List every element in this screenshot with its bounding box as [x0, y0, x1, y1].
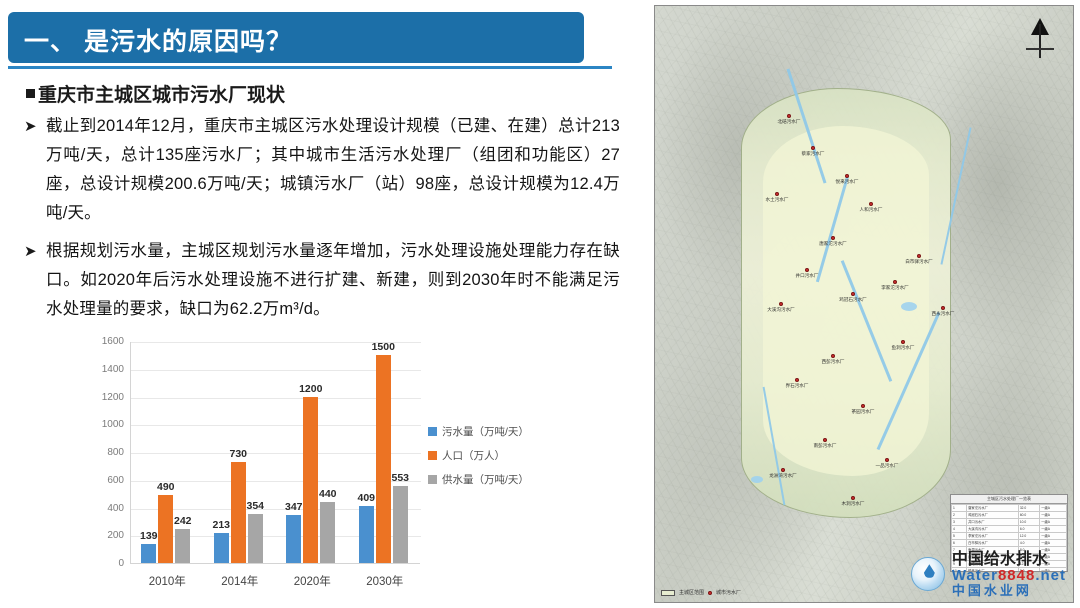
plant-label: 悦来污水厂: [836, 179, 859, 185]
table-cell: 井口污水厂: [967, 519, 1019, 526]
plant-marker: [805, 268, 809, 272]
table-cell: 唐家沱污水厂: [967, 505, 1019, 512]
plant-marker: [781, 468, 785, 472]
bullet-paragraph-1: ➤ 截止到2014年12月，重庆市主城区污水处理设计规模（已建、在建）总计213…: [24, 112, 620, 228]
table-cell: 白市驿污水厂: [967, 540, 1019, 547]
chart-y-tick: 200: [84, 530, 124, 541]
plant-marker: [779, 302, 783, 306]
chart-y-tick: 800: [84, 447, 124, 458]
plant-label: 鸡冠石污水厂: [839, 297, 867, 303]
bullet-paragraph-1-text: 截止到2014年12月，重庆市主城区污水处理设计规模（已建、在建）总计213万吨…: [46, 112, 620, 228]
chart-bar: [248, 514, 263, 563]
table-cell: 12.0: [1018, 533, 1039, 540]
chart-legend-item: 人口（万人）: [428, 448, 540, 463]
table-row: 4大溪沟污水厂6.0一级A: [952, 526, 1067, 533]
plant-marker: [851, 496, 855, 500]
plant-label: 井口污水厂: [796, 273, 819, 279]
plant-marker: [845, 174, 849, 178]
chart-bar-group: 34712004402020年: [281, 341, 343, 563]
watermark-number: 8848: [998, 567, 1035, 584]
plant-marker: [811, 146, 815, 150]
plant-label: 龙洲湾污水厂: [769, 473, 797, 479]
table-cell: 6: [952, 540, 967, 547]
chart-y-tick: 1600: [84, 336, 124, 347]
table-cell: 10.0: [1018, 519, 1039, 526]
table-row: 3井口污水厂10.0一级A: [952, 519, 1067, 526]
chart-legend-swatch: [428, 427, 437, 436]
plant-marker: [851, 292, 855, 296]
map-panel: 主城区范围 城市污水厂 主城区污水处理厂一览表 1唐家沱污水厂32.0一级A2鸡…: [645, 0, 1080, 608]
plant-label: 水土污水厂: [766, 197, 789, 203]
plant-label: 西彭污水厂: [822, 359, 845, 365]
chart-bar-value-label: 440: [313, 488, 343, 500]
chart-bar-group: 1394902422010年: [136, 341, 198, 563]
arrow-bullet-icon: ➤: [24, 112, 46, 141]
plant-label: 白市驿污水厂: [905, 259, 933, 265]
plant-marker: [941, 306, 945, 310]
table-row: 2鸡冠石污水厂60.0一级A: [952, 512, 1067, 519]
chart-bar-value-label: 490: [151, 481, 181, 493]
legend-point-swatch: [708, 591, 712, 595]
plant-label: 李家沱污水厂: [881, 285, 909, 291]
chart-y-tick: 1000: [84, 419, 124, 430]
plant-label: 木洞污水厂: [842, 501, 865, 507]
plant-marker: [885, 458, 889, 462]
chart-y-tick: 400: [84, 503, 124, 514]
chart-bar: [376, 355, 391, 563]
chart-bar: [214, 533, 229, 563]
map-table-title: 主城区污水处理厂一览表: [951, 495, 1067, 504]
table-row: 1唐家沱污水厂32.0一级A: [952, 505, 1067, 512]
chart-y-tick: 1200: [84, 392, 124, 403]
watermark-line-1: 中国给水排水: [952, 551, 1066, 568]
chart-bar-group: 2137303542014年: [209, 341, 271, 563]
watermark-brand: Water: [952, 567, 998, 584]
plant-marker: [917, 254, 921, 258]
table-cell: 一级A: [1040, 533, 1067, 540]
table-cell: 3: [952, 519, 967, 526]
map-legend: 主城区范围 城市污水厂: [661, 589, 741, 596]
bar-chart: 0200400600800100012001400160013949024220…: [88, 336, 538, 598]
chart-bar: [286, 515, 301, 563]
table-cell: 2: [952, 512, 967, 519]
chart-legend-label: 供水量（万吨/天）: [442, 472, 529, 487]
table-cell: 4.0: [1018, 540, 1039, 547]
table-row: 5李家沱污水厂12.0一级A: [952, 533, 1067, 540]
table-cell: 5: [952, 533, 967, 540]
plant-label: 一品污水厂: [876, 463, 899, 469]
plant-label: 蔡家污水厂: [802, 151, 825, 157]
chart-bar-value-label: 1200: [296, 383, 326, 395]
section-subheading: 重庆市主城区城市污水厂现状: [26, 80, 285, 107]
plant-label: 大溪沟污水厂: [767, 307, 795, 313]
chart-bar-value-label: 354: [240, 500, 270, 512]
watermark-line-3: 中国水业网: [952, 584, 1066, 598]
chart-legend: 污水量（万吨/天）人口（万人）供水量（万吨/天）: [428, 424, 540, 496]
chart-bar-value-label: 553: [385, 472, 415, 484]
watermark-text: 中国给水排水 Water8848.net 中国水业网: [952, 551, 1066, 598]
plant-label: 南彭污水厂: [814, 443, 837, 449]
table-cell: 一级A: [1040, 505, 1067, 512]
plant-label: 界石污水厂: [786, 383, 809, 389]
chart-bar-value-label: 730: [223, 448, 253, 460]
table-cell: 1: [952, 505, 967, 512]
table-cell: 李家沱污水厂: [967, 533, 1019, 540]
chart-bar: [393, 486, 408, 563]
plant-marker: [823, 438, 827, 442]
plant-marker: [869, 202, 873, 206]
table-cell: 一级A: [1040, 519, 1067, 526]
plant-marker: [893, 280, 897, 284]
table-cell: 大溪沟污水厂: [967, 526, 1019, 533]
chart-y-tick: 0: [84, 558, 124, 569]
legend-area-label: 主城区范围: [679, 589, 704, 596]
chart-legend-swatch: [428, 475, 437, 484]
plant-label: 西永污水厂: [932, 311, 955, 317]
slide-content-panel: 一、 是污水的原因吗？ 重庆市主城区城市污水厂现状 ➤ 截止到2014年12月，…: [0, 0, 645, 608]
plant-marker: [831, 354, 835, 358]
chart-bar-value-label: 242: [168, 515, 198, 527]
chart-y-tick: 600: [84, 475, 124, 486]
title-divider: [8, 66, 612, 69]
chart-x-tick: 2030年: [354, 573, 416, 589]
chart-bar: [141, 544, 156, 563]
slide-page: 一、 是污水的原因吗？ 重庆市主城区城市污水厂现状 ➤ 截止到2014年12月，…: [0, 0, 1080, 608]
plant-marker: [787, 114, 791, 118]
chart-legend-label: 人口（万人）: [442, 448, 505, 463]
plant-marker: [861, 404, 865, 408]
table-cell: 一级A: [1040, 512, 1067, 519]
chart-legend-label: 污水量（万吨/天）: [442, 424, 529, 439]
plant-marker: [775, 192, 779, 196]
watermark-line-2: Water8848.net: [952, 568, 1066, 584]
chart-legend-item: 污水量（万吨/天）: [428, 424, 540, 439]
table-row: 6白市驿污水厂4.0一级A: [952, 540, 1067, 547]
map-image: 主城区范围 城市污水厂 主城区污水处理厂一览表 1唐家沱污水厂32.0一级A2鸡…: [654, 5, 1074, 603]
table-cell: 60.0: [1018, 512, 1039, 519]
legend-point-label: 城市污水厂: [716, 589, 741, 596]
slide-title-banner: 一、 是污水的原因吗？: [8, 12, 584, 63]
legend-area-swatch: [661, 590, 675, 596]
chart-bar: [231, 462, 246, 563]
watermark-tld: .net: [1035, 567, 1066, 584]
table-cell: 鸡冠石污水厂: [967, 512, 1019, 519]
table-cell: 一级A: [1040, 526, 1067, 533]
chart-legend-item: 供水量（万吨/天）: [428, 472, 540, 487]
section-subheading-text: 重庆市主城区城市污水厂现状: [38, 85, 285, 106]
square-bullet-icon: [26, 89, 35, 98]
table-cell: 一级A: [1040, 540, 1067, 547]
north-arrow-icon: [1023, 18, 1059, 64]
bullet-paragraph-2: ➤ 根据规划污水量，主城区规划污水量逐年增加，污水处理设施处理能力存在缺口。如2…: [24, 237, 620, 324]
bullet-paragraph-2-text: 根据规划污水量，主城区规划污水量逐年增加，污水处理设施处理能力存在缺口。如202…: [46, 237, 620, 324]
chart-bar: [303, 397, 318, 564]
arrow-bullet-icon: ➤: [24, 237, 46, 266]
plant-label: 茶园污水厂: [852, 409, 875, 415]
chart-x-tick: 2014年: [209, 573, 271, 589]
plant-label: 唐家沱污水厂: [819, 241, 847, 247]
reservoir-1: [901, 302, 917, 311]
chart-y-tick: 1400: [84, 364, 124, 375]
plant-label: 北碚污水厂: [778, 119, 801, 125]
chart-bar-value-label: 1500: [368, 341, 398, 353]
plant-label: 人和污水厂: [860, 207, 883, 213]
table-cell: 32.0: [1018, 505, 1039, 512]
chart-bar: [175, 529, 190, 563]
water-drop-logo-icon: [911, 557, 945, 591]
reservoir-2: [751, 476, 763, 483]
chart-bar: [158, 495, 173, 563]
chart-bar: [359, 506, 374, 563]
plant-marker: [795, 378, 799, 382]
chart-bar-group: 40915005532030年: [354, 341, 416, 563]
plant-marker: [831, 236, 835, 240]
chart-x-tick: 2010年: [136, 573, 198, 589]
table-cell: 4: [952, 526, 967, 533]
table-cell: 6.0: [1018, 526, 1039, 533]
page-title: 一、 是污水的原因吗？: [24, 22, 292, 58]
chart-bar: [320, 502, 335, 563]
chart-x-tick: 2020年: [281, 573, 343, 589]
chart-plot-area: 0200400600800100012001400160013949024220…: [130, 342, 420, 564]
chart-legend-swatch: [428, 451, 437, 460]
watermark: 中国给水排水 Water8848.net 中国水业网: [911, 551, 1066, 598]
plant-marker: [901, 340, 905, 344]
plant-label: 鱼洞污水厂: [892, 345, 915, 351]
